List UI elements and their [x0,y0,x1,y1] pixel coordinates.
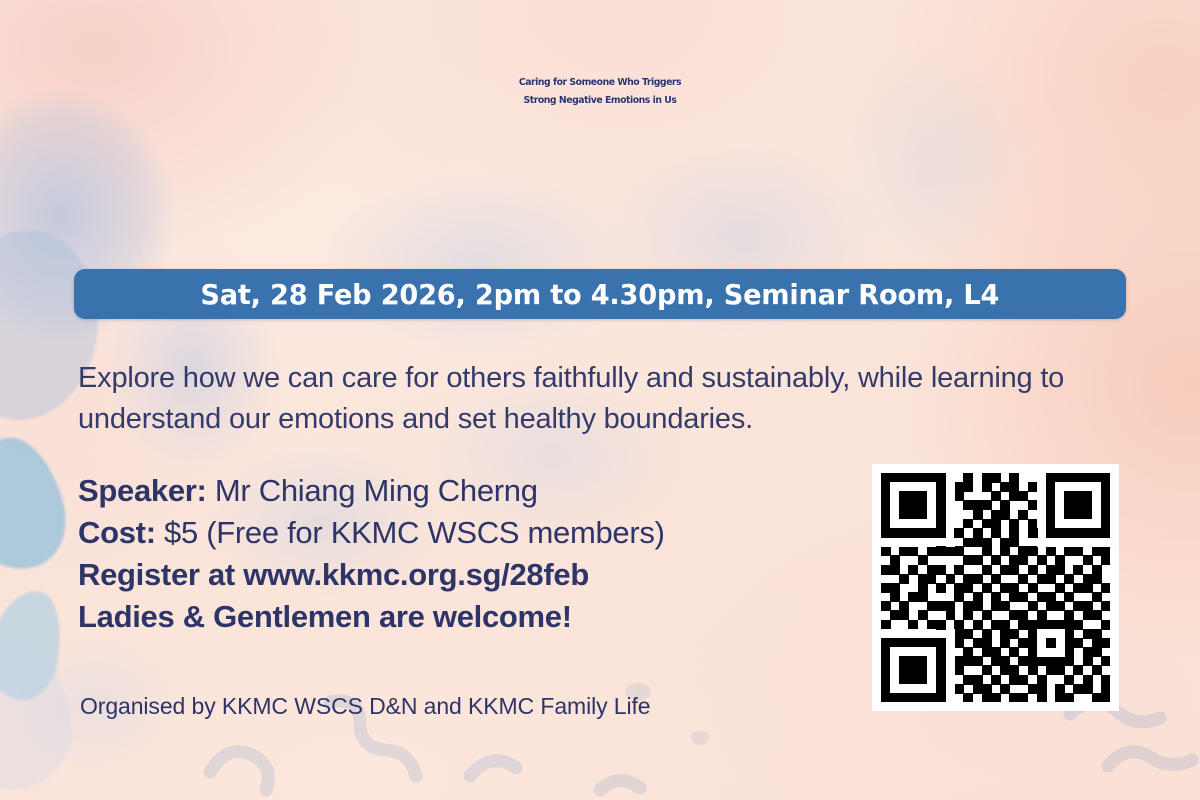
welcome-note: Ladies & Gentlemen are welcome! [78,596,868,638]
detail-cost: Cost: $5 (Free for KKMC WSCS members) [78,512,868,554]
poster-content: Caring for Someone Who Triggers Strong N… [0,0,1200,800]
qr-code-image[interactable] [881,473,1110,702]
detail-cost-separator: : [146,515,164,550]
detail-speaker-label: Speaker [78,473,197,508]
date-time-venue-text: Sat, 28 Feb 2026, 2pm to 4.30pm, Seminar… [201,278,1000,311]
detail-speaker: Speaker: Mr Chiang Ming Cherng [78,470,868,512]
registration-qr-code[interactable] [872,464,1119,711]
detail-cost-value: $5 (Free for KKMC WSCS members) [164,515,665,550]
title-line-2: Strong Negative Emotions in Us [79,96,1121,106]
event-description: Explore how we can care for others faith… [78,358,1128,440]
registration-link[interactable]: Register at www.kkmc.org.sg/28feb [78,554,868,596]
page-title: Caring for Someone Who Triggers Strong N… [0,78,1200,106]
organisers-credit: Organised by KKMC WSCS D&N and KKMC Fami… [80,693,650,720]
event-poster: Caring for Someone Who Triggers Strong N… [0,0,1200,800]
title-line-1: Caring for Someone Who Triggers [79,78,1121,88]
detail-cost-label: Cost [78,515,146,550]
event-details-list: Speaker: Mr Chiang Ming Cherng Cost: $5 … [78,470,868,639]
date-time-venue-banner: Sat, 28 Feb 2026, 2pm to 4.30pm, Seminar… [74,269,1126,319]
detail-speaker-value: Mr Chiang Ming Cherng [215,473,538,508]
detail-speaker-separator: : [197,473,215,508]
